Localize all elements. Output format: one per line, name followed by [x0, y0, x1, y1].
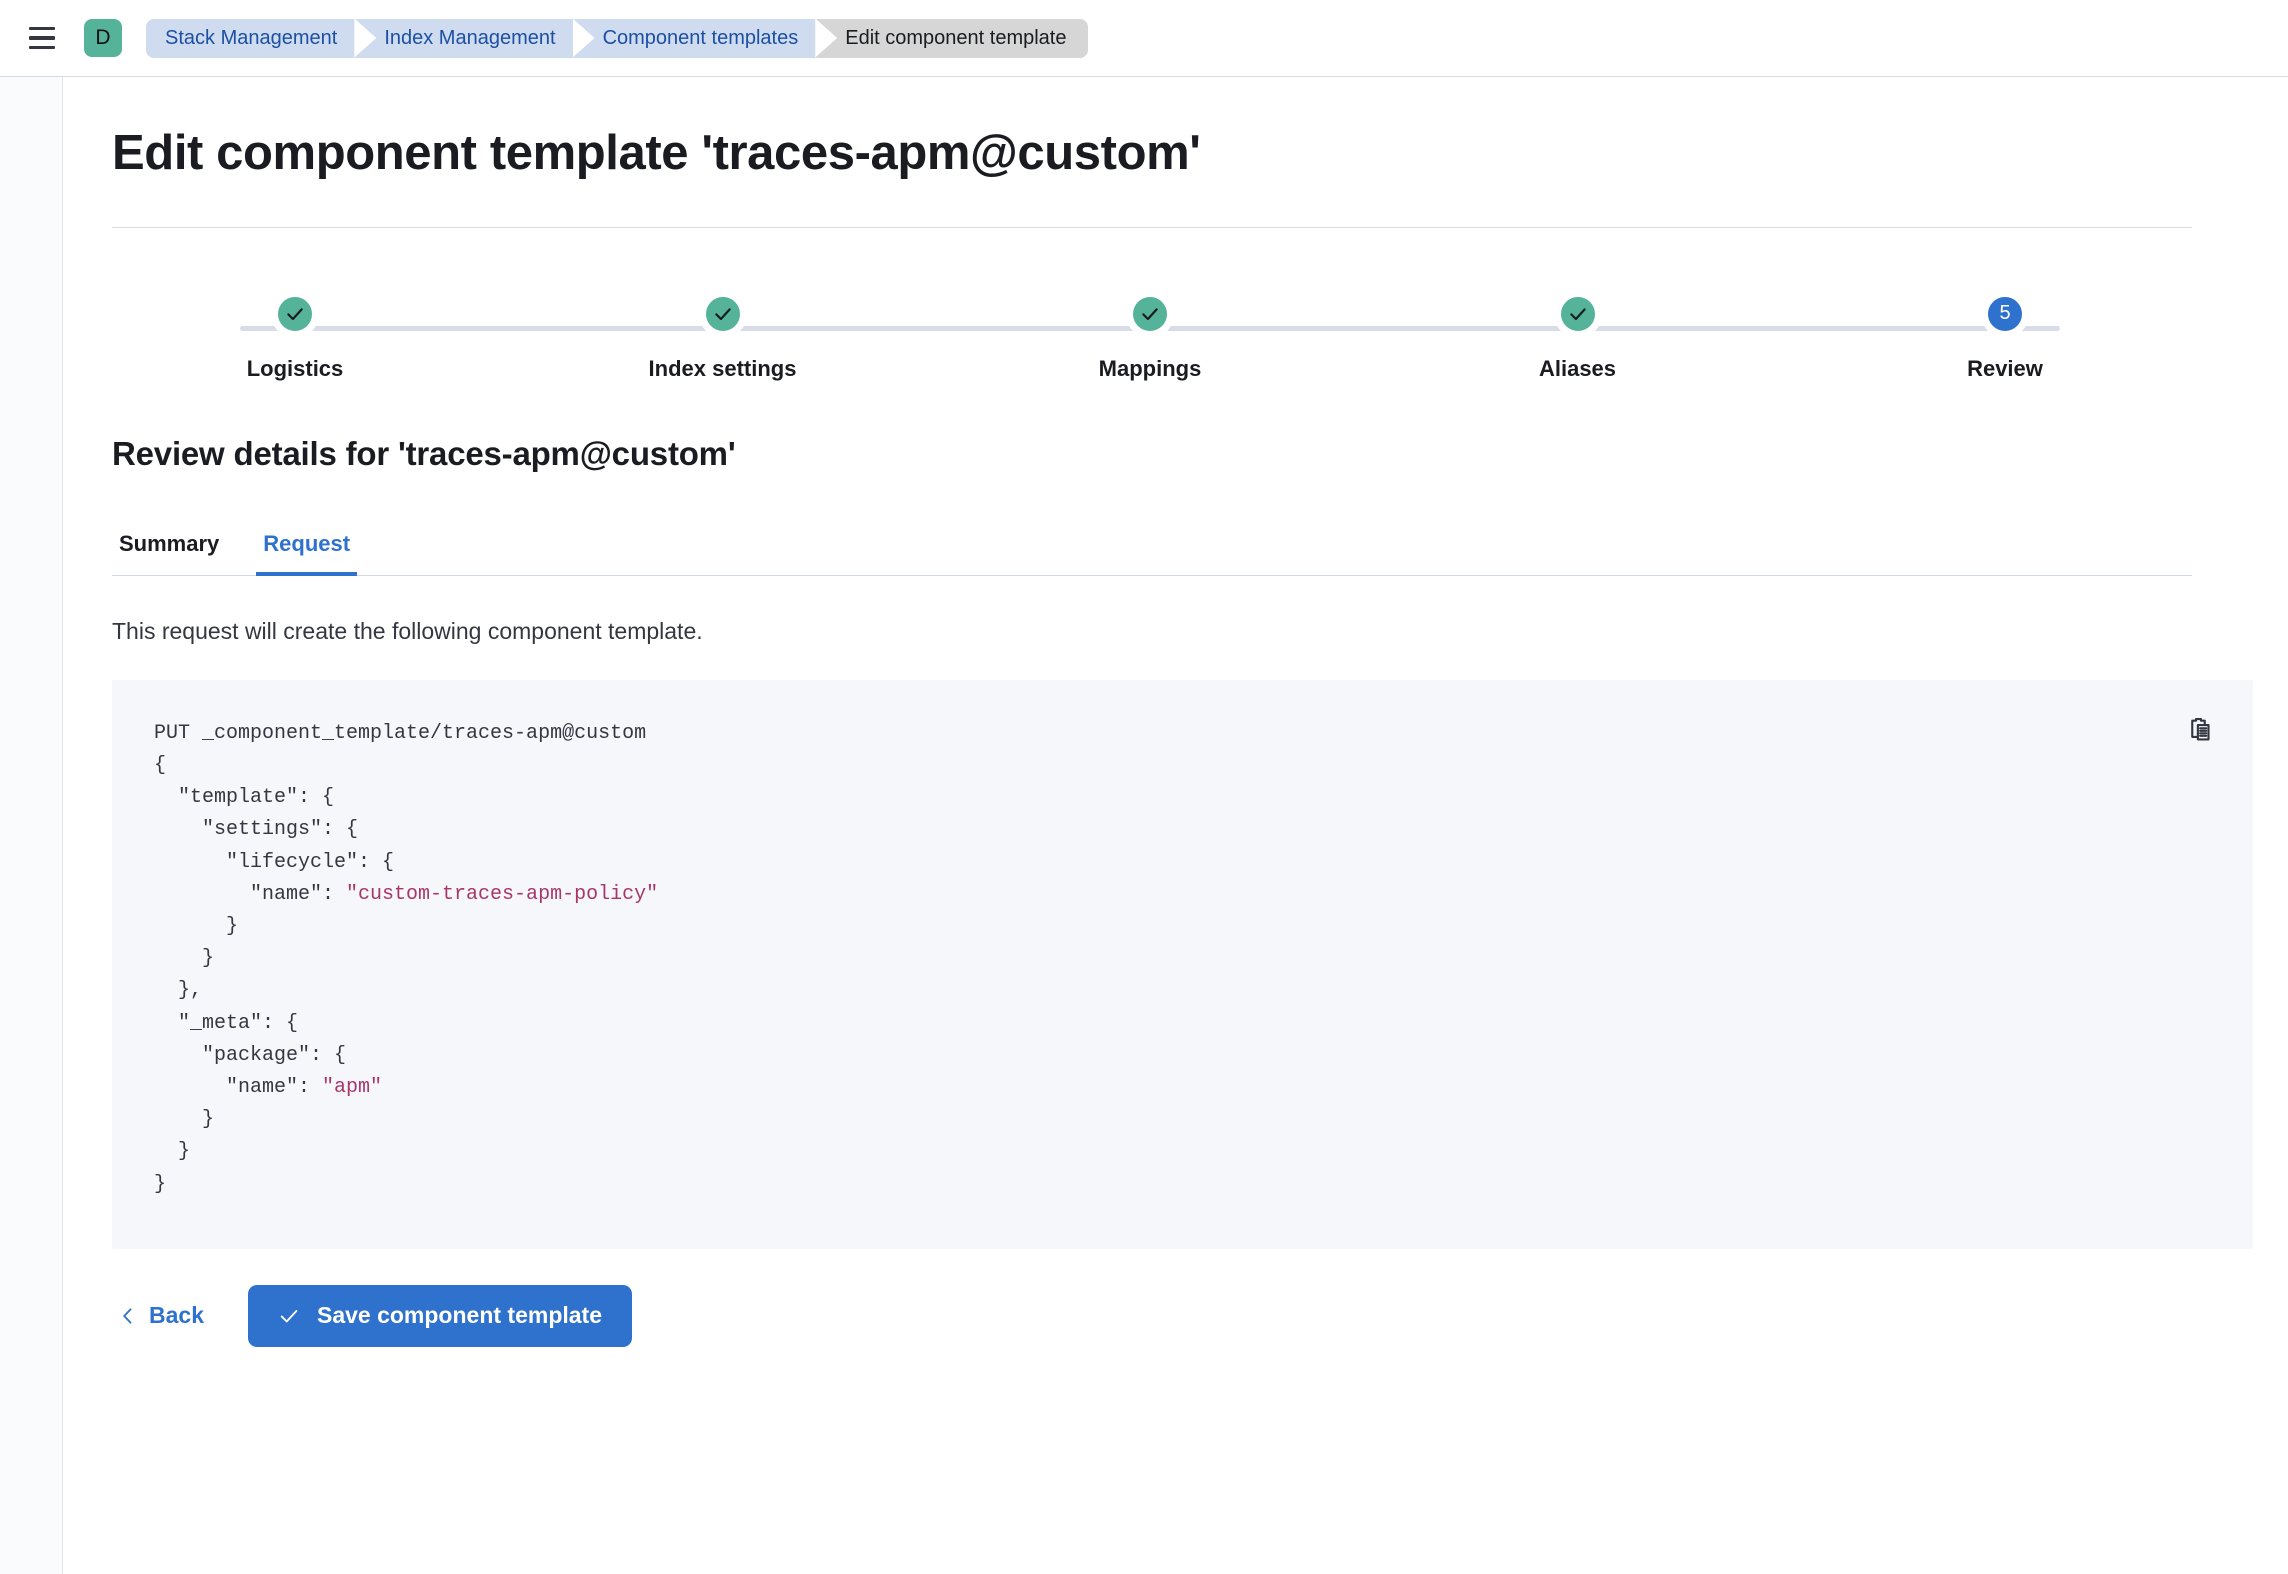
tab-request[interactable]: Request: [256, 531, 357, 576]
check-icon: [713, 304, 733, 324]
step-number: 5: [1999, 302, 2010, 325]
space-avatar[interactable]: D: [84, 19, 122, 57]
stepper-step-index-settings[interactable]: Index settings: [608, 290, 838, 382]
breadcrumb-item-stack-management[interactable]: Stack Management: [146, 19, 354, 58]
request-description: This request will create the following c…: [112, 618, 2240, 645]
breadcrumb-item-component-templates[interactable]: Component templates: [573, 19, 816, 58]
step-marker-complete: [699, 290, 747, 338]
breadcrumb-label: Edit component template: [845, 27, 1066, 50]
wizard-stepper: Logistics Index settings Mappings Aliase…: [180, 290, 2120, 382]
request-code-block: PUT _component_template/traces-apm@custo…: [112, 680, 2253, 1249]
check-icon: [278, 1305, 300, 1327]
breadcrumb-label: Component templates: [603, 27, 799, 50]
stepper-step-label: Logistics: [247, 356, 344, 382]
tab-label: Summary: [119, 531, 219, 556]
collapsed-sidebar-rail: [0, 77, 63, 1574]
hamburger-menu-icon[interactable]: [22, 18, 62, 58]
request-code-text: PUT _component_template/traces-apm@custo…: [154, 718, 2253, 1201]
step-marker-complete: [271, 290, 319, 338]
stepper-step-logistics[interactable]: Logistics: [180, 290, 410, 382]
back-button[interactable]: Back: [112, 1294, 210, 1337]
save-label: Save component template: [317, 1302, 602, 1329]
check-icon: [1568, 304, 1588, 324]
space-avatar-letter: D: [95, 26, 110, 50]
step-marker-complete: [1554, 290, 1602, 338]
chevron-left-icon: [118, 1306, 138, 1326]
review-tabs: Summary Request: [112, 517, 2192, 576]
tab-label: Request: [263, 531, 350, 556]
stepper-step-mappings[interactable]: Mappings: [1035, 290, 1265, 382]
review-heading: Review details for 'traces-apm@custom': [112, 435, 2240, 473]
stepper-step-label: Review: [1967, 356, 2043, 382]
breadcrumb-item-edit-component-template: Edit component template: [815, 19, 1088, 58]
hamburger-bar: [29, 27, 55, 31]
stepper-step-label: Index settings: [649, 356, 797, 382]
check-icon: [285, 304, 305, 324]
step-marker-current: 5: [1981, 290, 2029, 338]
tab-summary[interactable]: Summary: [112, 531, 226, 576]
hamburger-bar: [29, 46, 55, 50]
stepper-step-review[interactable]: 5 Review: [1890, 290, 2120, 382]
check-icon: [1140, 304, 1160, 324]
wizard-footer-actions: Back Save component template: [112, 1285, 2240, 1347]
top-navigation-bar: D Stack Management Index Management Comp…: [0, 0, 2288, 77]
title-divider: [112, 227, 2192, 228]
breadcrumb-label: Index Management: [384, 27, 555, 50]
breadcrumb-label: Stack Management: [165, 27, 337, 50]
copy-clipboard-icon[interactable]: [2179, 708, 2223, 752]
stepper-step-label: Mappings: [1099, 356, 1202, 382]
step-marker-complete: [1126, 290, 1174, 338]
main-content: Edit component template 'traces-apm@cust…: [64, 77, 2288, 1574]
stepper-step-aliases[interactable]: Aliases: [1463, 290, 1693, 382]
stepper-step-label: Aliases: [1539, 356, 1616, 382]
save-component-template-button[interactable]: Save component template: [248, 1285, 632, 1347]
hamburger-bar: [29, 36, 55, 40]
back-label: Back: [149, 1302, 204, 1329]
breadcrumb: Stack Management Index Management Compon…: [146, 19, 1088, 58]
page-title: Edit component template 'traces-apm@cust…: [112, 125, 2240, 183]
breadcrumb-item-index-management[interactable]: Index Management: [354, 19, 572, 58]
